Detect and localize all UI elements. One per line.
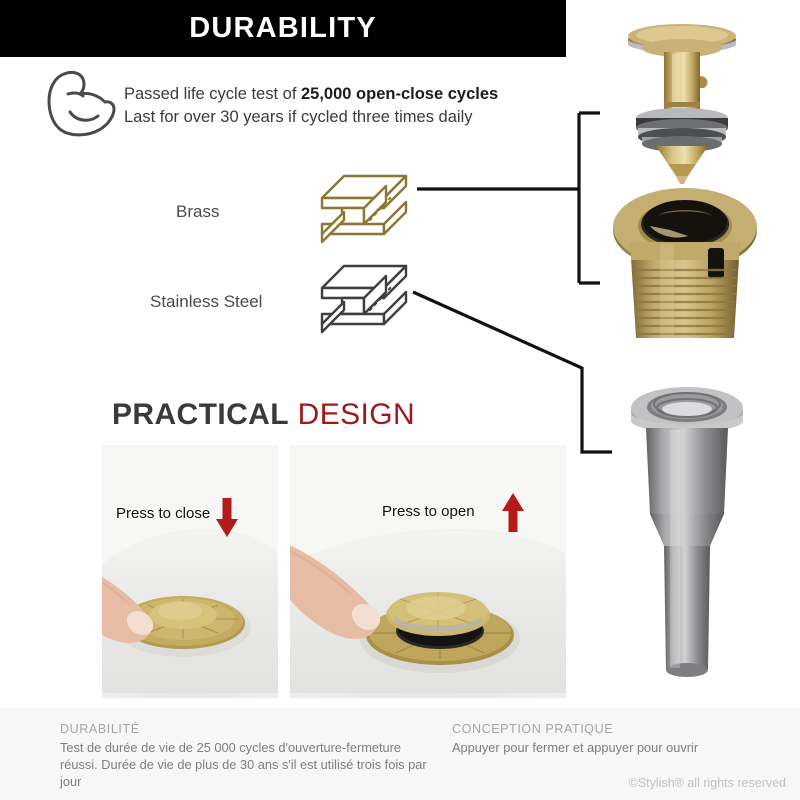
footer-body-conception-pratique: Appuyer pour fermer et appuyer pour ouvr… [452, 739, 752, 756]
material-label-stainless-steel: Stainless Steel [150, 292, 262, 312]
photo-press-to-close: Press to close [102, 445, 278, 698]
heading-word-design: DESIGN [298, 398, 415, 431]
footer-body-durabilite: Test de durée de vie de 25 000 cycles d'… [60, 739, 440, 790]
durability-line-2: Last for over 30 years if cycled three t… [124, 106, 544, 129]
arrow-down-icon [214, 497, 240, 542]
i-beam-icon-stainless-steel [318, 258, 410, 344]
heading-word-practical: PRACTICAL [112, 398, 289, 431]
photo-press-to-open: Press to open [290, 445, 566, 698]
footer: DURABILITÉ Test de durée de vie de 25 00… [0, 708, 800, 800]
finger [102, 557, 180, 662]
infographic-page: DURABILITY Passed life cycle test of 25,… [0, 0, 800, 800]
material-label-brass: Brass [176, 202, 219, 222]
photo-caption-open: Press to open [382, 503, 475, 520]
footer-column-conception-pratique: CONCEPTION PRATIQUE Appuyer pour fermer … [452, 722, 752, 756]
i-beam-icon-brass [318, 168, 410, 254]
copyright-notice: ©Stylish® all rights reserved [629, 776, 786, 790]
header-banner: DURABILITY [0, 0, 566, 57]
footer-column-durabilite: DURABILITÉ Test de durée de vie de 25 00… [60, 722, 440, 790]
practical-design-heading: PRACTICAL DESIGN [112, 398, 415, 432]
arrow-up-icon [500, 493, 526, 538]
photo-caption-close: Press to close [116, 505, 210, 522]
durability-line-1: Passed life cycle test of 25,000 open-cl… [124, 83, 544, 106]
finger [290, 537, 410, 662]
connector-stainless [413, 292, 612, 452]
stainless-steel-tailpiece [612, 378, 762, 678]
durability-description: Passed life cycle test of 25,000 open-cl… [124, 83, 544, 129]
page-title: DURABILITY [0, 0, 566, 57]
brass-drain-body [600, 186, 770, 344]
footer-heading-durabilite: DURABILITÉ [60, 722, 440, 736]
footer-heading-conception-pratique: CONCEPTION PRATIQUE [452, 722, 752, 736]
brass-pop-up-stopper [612, 14, 752, 184]
flexed-bicep-icon [44, 68, 118, 140]
